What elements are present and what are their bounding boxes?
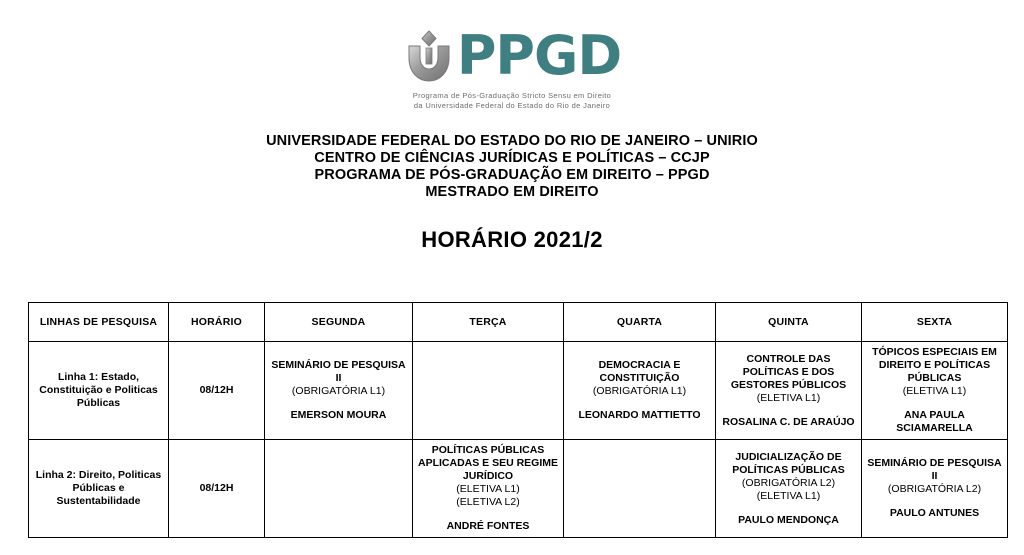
course-tag: (OBRIGATÓRIA L2): [866, 483, 1003, 496]
ppgd-logo: PPGD Programa de Pós-Graduação Stricto S…: [0, 0, 1024, 111]
logo-subtitle-line2: da Universidade Federal do Estado do Rio…: [0, 101, 1024, 111]
course-title: DEMOCRACIA E CONSTITUIÇÃO: [568, 359, 711, 385]
cell-sexta: SEMINÁRIO DE PESQUISA II (OBRIGATÓRIA L2…: [862, 440, 1008, 538]
cell-time: 08/12H: [169, 440, 265, 538]
course-title: TÓPICOS ESPECIAIS EM DIREITO E POLÍTICAS…: [866, 346, 1003, 385]
schedule-table-wrapper: LINHAS DE PESQUISA HORÁRIO SEGUNDA TERÇA…: [28, 302, 1000, 538]
research-line-label: Linha 1: Estado, Constituição e Politica…: [33, 371, 164, 410]
cell-segunda: [265, 440, 413, 538]
cell-research-line: Linha 2: Direito, Politicas Públicas e S…: [29, 440, 169, 538]
cell-quarta: [564, 440, 716, 538]
col-header-linhas: LINHAS DE PESQUISA: [29, 303, 169, 342]
ppgd-chalice-icon: [403, 29, 455, 83]
course-title: SEMINÁRIO DE PESQUISA II: [269, 359, 408, 385]
cell-sexta: TÓPICOS ESPECIAIS EM DIREITO E POLÍTICAS…: [862, 342, 1008, 440]
table-header-row: LINHAS DE PESQUISA HORÁRIO SEGUNDA TERÇA…: [29, 303, 1008, 342]
course-title: POLÍTICAS PÚBLICAS APLICADAS E SEU REGIM…: [417, 444, 559, 483]
course-professor: EMERSON MOURA: [269, 409, 408, 422]
logo-subtitle: Programa de Pós-Graduação Stricto Sensu …: [0, 91, 1024, 111]
course-tag: (ELETIVA L1): [720, 490, 857, 503]
col-header-quarta: QUARTA: [564, 303, 716, 342]
col-header-quinta: QUINTA: [716, 303, 862, 342]
heading-line-degree: MESTRADO EM DIREITO: [0, 184, 1024, 201]
course-title: CONTROLE DAS POLÍTICAS E DOS GESTORES PÚ…: [720, 353, 857, 392]
time-label: 08/12H: [173, 482, 260, 495]
logo-row: PPGD: [403, 28, 621, 84]
course-professor: ROSALINA C. DE ARAÚJO: [720, 416, 857, 429]
course-tag: (ELETIVA L1): [720, 392, 857, 405]
heading-line-center: CENTRO DE CIÊNCIAS JURÍDICAS E POLÍTICAS…: [0, 150, 1024, 167]
heading-line-university: UNIVERSIDADE FEDERAL DO ESTADO DO RIO DE…: [0, 133, 1024, 150]
ppgd-wordmark: PPGD: [457, 29, 621, 83]
course-title: JUDICIALIZAÇÃO DE POLÍTICAS PÚBLICAS: [720, 451, 857, 477]
course-title: SEMINÁRIO DE PESQUISA II: [866, 457, 1003, 483]
col-header-segunda: SEGUNDA: [265, 303, 413, 342]
logo-subtitle-line1: Programa de Pós-Graduação Stricto Sensu …: [0, 91, 1024, 101]
col-header-horario: HORÁRIO: [169, 303, 265, 342]
cell-terca: POLÍTICAS PÚBLICAS APLICADAS E SEU REGIM…: [413, 440, 564, 538]
research-line-label: Linha 2: Direito, Politicas Públicas e S…: [33, 469, 164, 508]
course-professor: ANA PAULA SCIAMARELLA: [866, 409, 1003, 435]
schedule-table-head: LINHAS DE PESQUISA HORÁRIO SEGUNDA TERÇA…: [29, 303, 1008, 342]
table-row: Linha 1: Estado, Constituição e Politica…: [29, 342, 1008, 440]
col-header-terca: TERÇA: [413, 303, 564, 342]
cell-terca: [413, 342, 564, 440]
time-label: 08/12H: [173, 384, 260, 397]
schedule-table-body: Linha 1: Estado, Constituição e Politica…: [29, 342, 1008, 538]
page-title: HORÁRIO 2021/2: [0, 227, 1024, 253]
course-tag: (ELETIVA L1): [417, 483, 559, 496]
table-row: Linha 2: Direito, Politicas Públicas e S…: [29, 440, 1008, 538]
course-tag: (ELETIVA L1): [866, 385, 1003, 398]
cell-quinta: CONTROLE DAS POLÍTICAS E DOS GESTORES PÚ…: [716, 342, 862, 440]
course-tag: (OBRIGATÓRIA L2): [720, 477, 857, 490]
course-professor: PAULO MENDONÇA: [720, 514, 857, 527]
course-tag: (OBRIGATÓRIA L1): [269, 385, 408, 398]
col-header-sexta: SEXTA: [862, 303, 1008, 342]
heading-line-program: PROGRAMA DE PÓS-GRADUAÇÃO EM DIREITO – P…: [0, 167, 1024, 184]
cell-time: 08/12H: [169, 342, 265, 440]
course-professor: LEONARDO MATTIETTO: [568, 409, 711, 422]
course-tag: (ELETIVA L2): [417, 496, 559, 509]
cell-quinta: JUDICIALIZAÇÃO DE POLÍTICAS PÚBLICAS (OB…: [716, 440, 862, 538]
cell-segunda: SEMINÁRIO DE PESQUISA II (OBRIGATÓRIA L1…: [265, 342, 413, 440]
course-tag: (OBRIGATÓRIA L1): [568, 385, 711, 398]
cell-quarta: DEMOCRACIA E CONSTITUIÇÃO (OBRIGATÓRIA L…: [564, 342, 716, 440]
cell-research-line: Linha 1: Estado, Constituição e Politica…: [29, 342, 169, 440]
institution-heading: UNIVERSIDADE FEDERAL DO ESTADO DO RIO DE…: [0, 133, 1024, 201]
course-professor: PAULO ANTUNES: [866, 507, 1003, 520]
course-professor: ANDRÉ FONTES: [417, 520, 559, 533]
schedule-table: LINHAS DE PESQUISA HORÁRIO SEGUNDA TERÇA…: [28, 302, 1008, 538]
